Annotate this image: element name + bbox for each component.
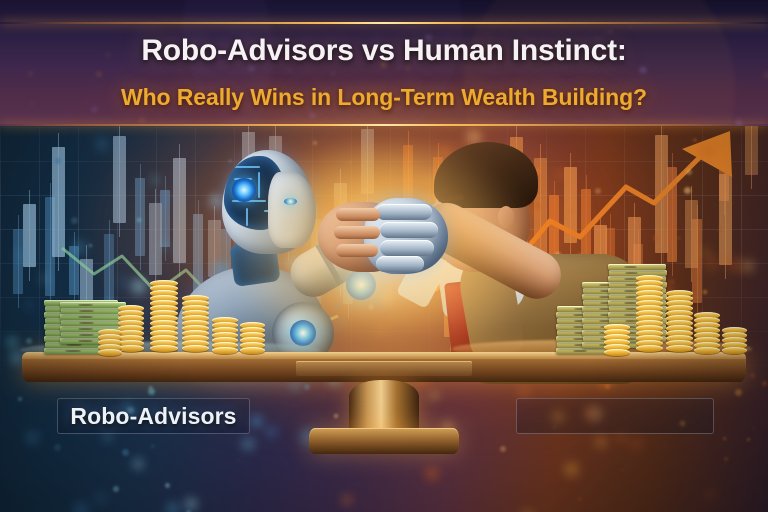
coin-stack [182, 295, 209, 357]
hero-banner: Robo-Advisors vs Human Instinct: Who Rea… [0, 0, 768, 512]
coin-stack [666, 290, 693, 357]
label-human-instinct: Human Instinct [516, 398, 714, 434]
clasped-hands [318, 198, 450, 284]
cash-stack-bill [60, 314, 126, 320]
divider-rule-bottom [0, 124, 768, 126]
cash-stack-bill [60, 302, 126, 308]
table-pedestal-base [309, 428, 459, 454]
coin-stack [722, 327, 747, 359]
coin-stack [636, 275, 663, 357]
title-band: Robo-Advisors vs Human Instinct: Who Rea… [0, 0, 768, 126]
coin-stack [604, 324, 630, 361]
coin-stack [98, 329, 122, 361]
label-robo-advisors: Robo-Advisors [57, 398, 250, 434]
coin-stack [240, 322, 265, 359]
page-title: Robo-Advisors vs Human Instinct: [0, 34, 768, 68]
label-robo-advisors-text: Robo-Advisors [70, 403, 236, 430]
table-center-plate [296, 361, 472, 376]
cash-stack-bill [608, 264, 666, 270]
page-subtitle: Who Really Wins in Long-Term Wealth Buil… [0, 84, 768, 111]
coin-stack [212, 317, 238, 359]
coin-stack [150, 280, 178, 357]
divider-rule-top [0, 22, 768, 24]
coin-stack [694, 312, 720, 359]
